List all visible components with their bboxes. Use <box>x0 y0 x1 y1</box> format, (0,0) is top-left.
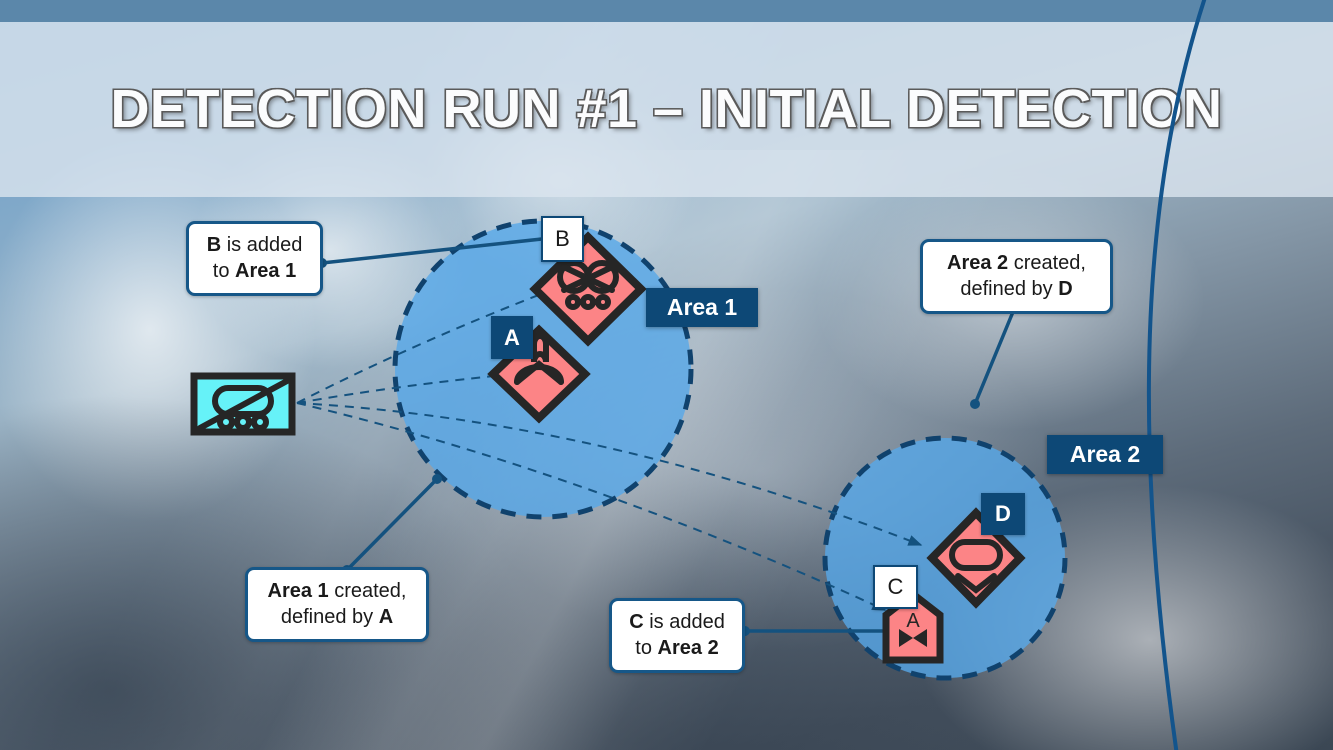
callout-c-added-line-1: C is added <box>626 609 728 635</box>
label-c[interactable]: C <box>873 565 918 609</box>
callout-area1-created[interactable]: Area 1 created, defined by A <box>245 567 429 642</box>
callout-area1-created-line-2: defined by A <box>262 604 412 630</box>
callout-b-added-line-1: B is added <box>203 232 306 258</box>
leader-area2-created <box>975 307 1015 404</box>
label-b[interactable]: B <box>541 216 584 262</box>
callout-area2-created[interactable]: Area 2 created, defined by D <box>920 239 1113 314</box>
callout-c-added[interactable]: C is added to Area 2 <box>609 598 745 673</box>
leader-area1-created <box>347 479 437 570</box>
callout-area2-created-line-1: Area 2 created, <box>937 250 1096 276</box>
callout-b-added[interactable]: B is added to Area 1 <box>186 221 323 296</box>
label-a[interactable]: A <box>491 316 533 359</box>
label-d[interactable]: D <box>981 493 1025 535</box>
callout-b-added-line-2: to Area 1 <box>203 258 306 284</box>
area-1-label: Area 1 <box>646 288 758 327</box>
sensor-platform[interactable] <box>194 376 292 432</box>
area-2-label: Area 2 <box>1047 435 1163 474</box>
callout-area1-created-line-1: Area 1 created, <box>262 578 412 604</box>
slide-canvas: DETECTION RUN #1 – INITIAL DETECTION <box>0 0 1333 750</box>
symbol-c-text: A <box>906 610 920 632</box>
callout-area2-created-line-2: defined by D <box>937 276 1096 302</box>
callout-c-added-line-2: to Area 2 <box>626 635 728 661</box>
